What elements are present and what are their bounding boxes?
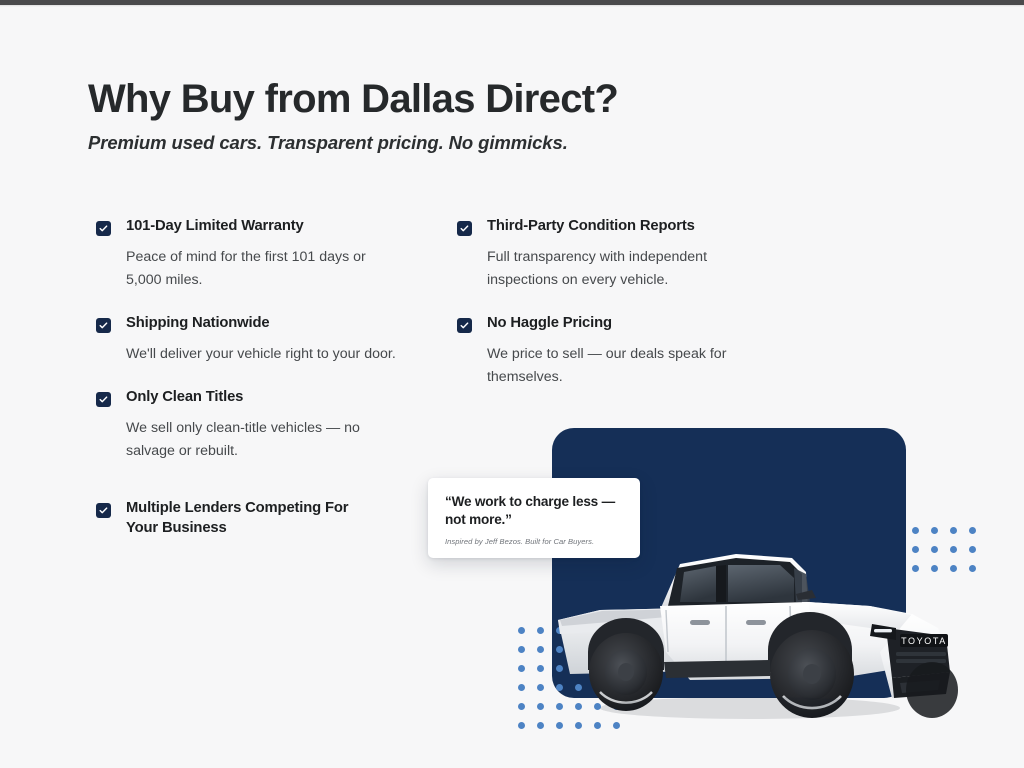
checkbox-checked-icon — [457, 221, 472, 236]
page-subtitle: Premium used cars. Transparent pricing. … — [88, 132, 708, 154]
dot — [518, 665, 525, 672]
checkbox-checked-icon — [96, 221, 111, 236]
checkbox-checked-icon — [96, 318, 111, 333]
feature-item-shipping: Shipping Nationwide We'll deliver your v… — [88, 314, 449, 366]
page-canvas: Why Buy from Dallas Direct? Premium used… — [0, 7, 1024, 768]
checkbox-checked-icon — [96, 392, 111, 407]
dot — [518, 703, 525, 710]
dot — [518, 627, 525, 634]
dot — [518, 722, 525, 729]
feature-title: No Haggle Pricing — [487, 314, 788, 334]
quote-attribution: Inspired by Jeff Bezos. Built for Car Bu… — [445, 537, 624, 546]
quote-card: “We work to charge less — not more.” Ins… — [428, 478, 640, 558]
feature-column-left: 101-Day Limited Warranty Peace of mind f… — [88, 217, 449, 539]
dot — [518, 646, 525, 653]
feature-item-no-haggle: No Haggle Pricing We price to sell — our… — [449, 314, 788, 389]
feature-title: Third-Party Condition Reports — [487, 217, 788, 237]
svg-text:TOYOTA: TOYOTA — [901, 636, 947, 646]
dot — [518, 684, 525, 691]
feature-title: Only Clean Titles — [126, 388, 449, 408]
rear-tire — [589, 633, 663, 711]
checkbox-checked-icon — [96, 503, 111, 518]
feature-item-condition-reports: Third-Party Condition Reports Full trans… — [449, 217, 788, 292]
hero-visual: TOYOTA — [425, 412, 1024, 768]
page-title: Why Buy from Dallas Direct? — [88, 77, 708, 122]
feature-description: Peace of mind for the first 101 days or … — [126, 246, 398, 292]
feature-title: Shipping Nationwide — [126, 314, 449, 334]
feature-description: We'll deliver your vehicle right to your… — [126, 343, 398, 366]
feature-item-clean-titles: Only Clean Titles We sell only clean-tit… — [88, 388, 449, 463]
feature-title: 101-Day Limited Warranty — [126, 217, 449, 237]
feature-description: Full transparency with independent inspe… — [487, 246, 755, 292]
heading-block: Why Buy from Dallas Direct? Premium used… — [88, 77, 708, 154]
quote-text: “We work to charge less — not more.” — [445, 493, 624, 529]
feature-item-warranty: 101-Day Limited Warranty Peace of mind f… — [88, 217, 449, 292]
feature-description: We sell only clean-title vehicles — no s… — [126, 417, 398, 463]
feature-description: We price to sell — our deals speak for t… — [487, 343, 755, 389]
feature-title: Multiple Lenders Competing For Your Busi… — [126, 499, 384, 539]
checkbox-checked-icon — [457, 318, 472, 333]
feature-item-multiple-lenders: Multiple Lenders Competing For Your Busi… — [88, 499, 449, 539]
